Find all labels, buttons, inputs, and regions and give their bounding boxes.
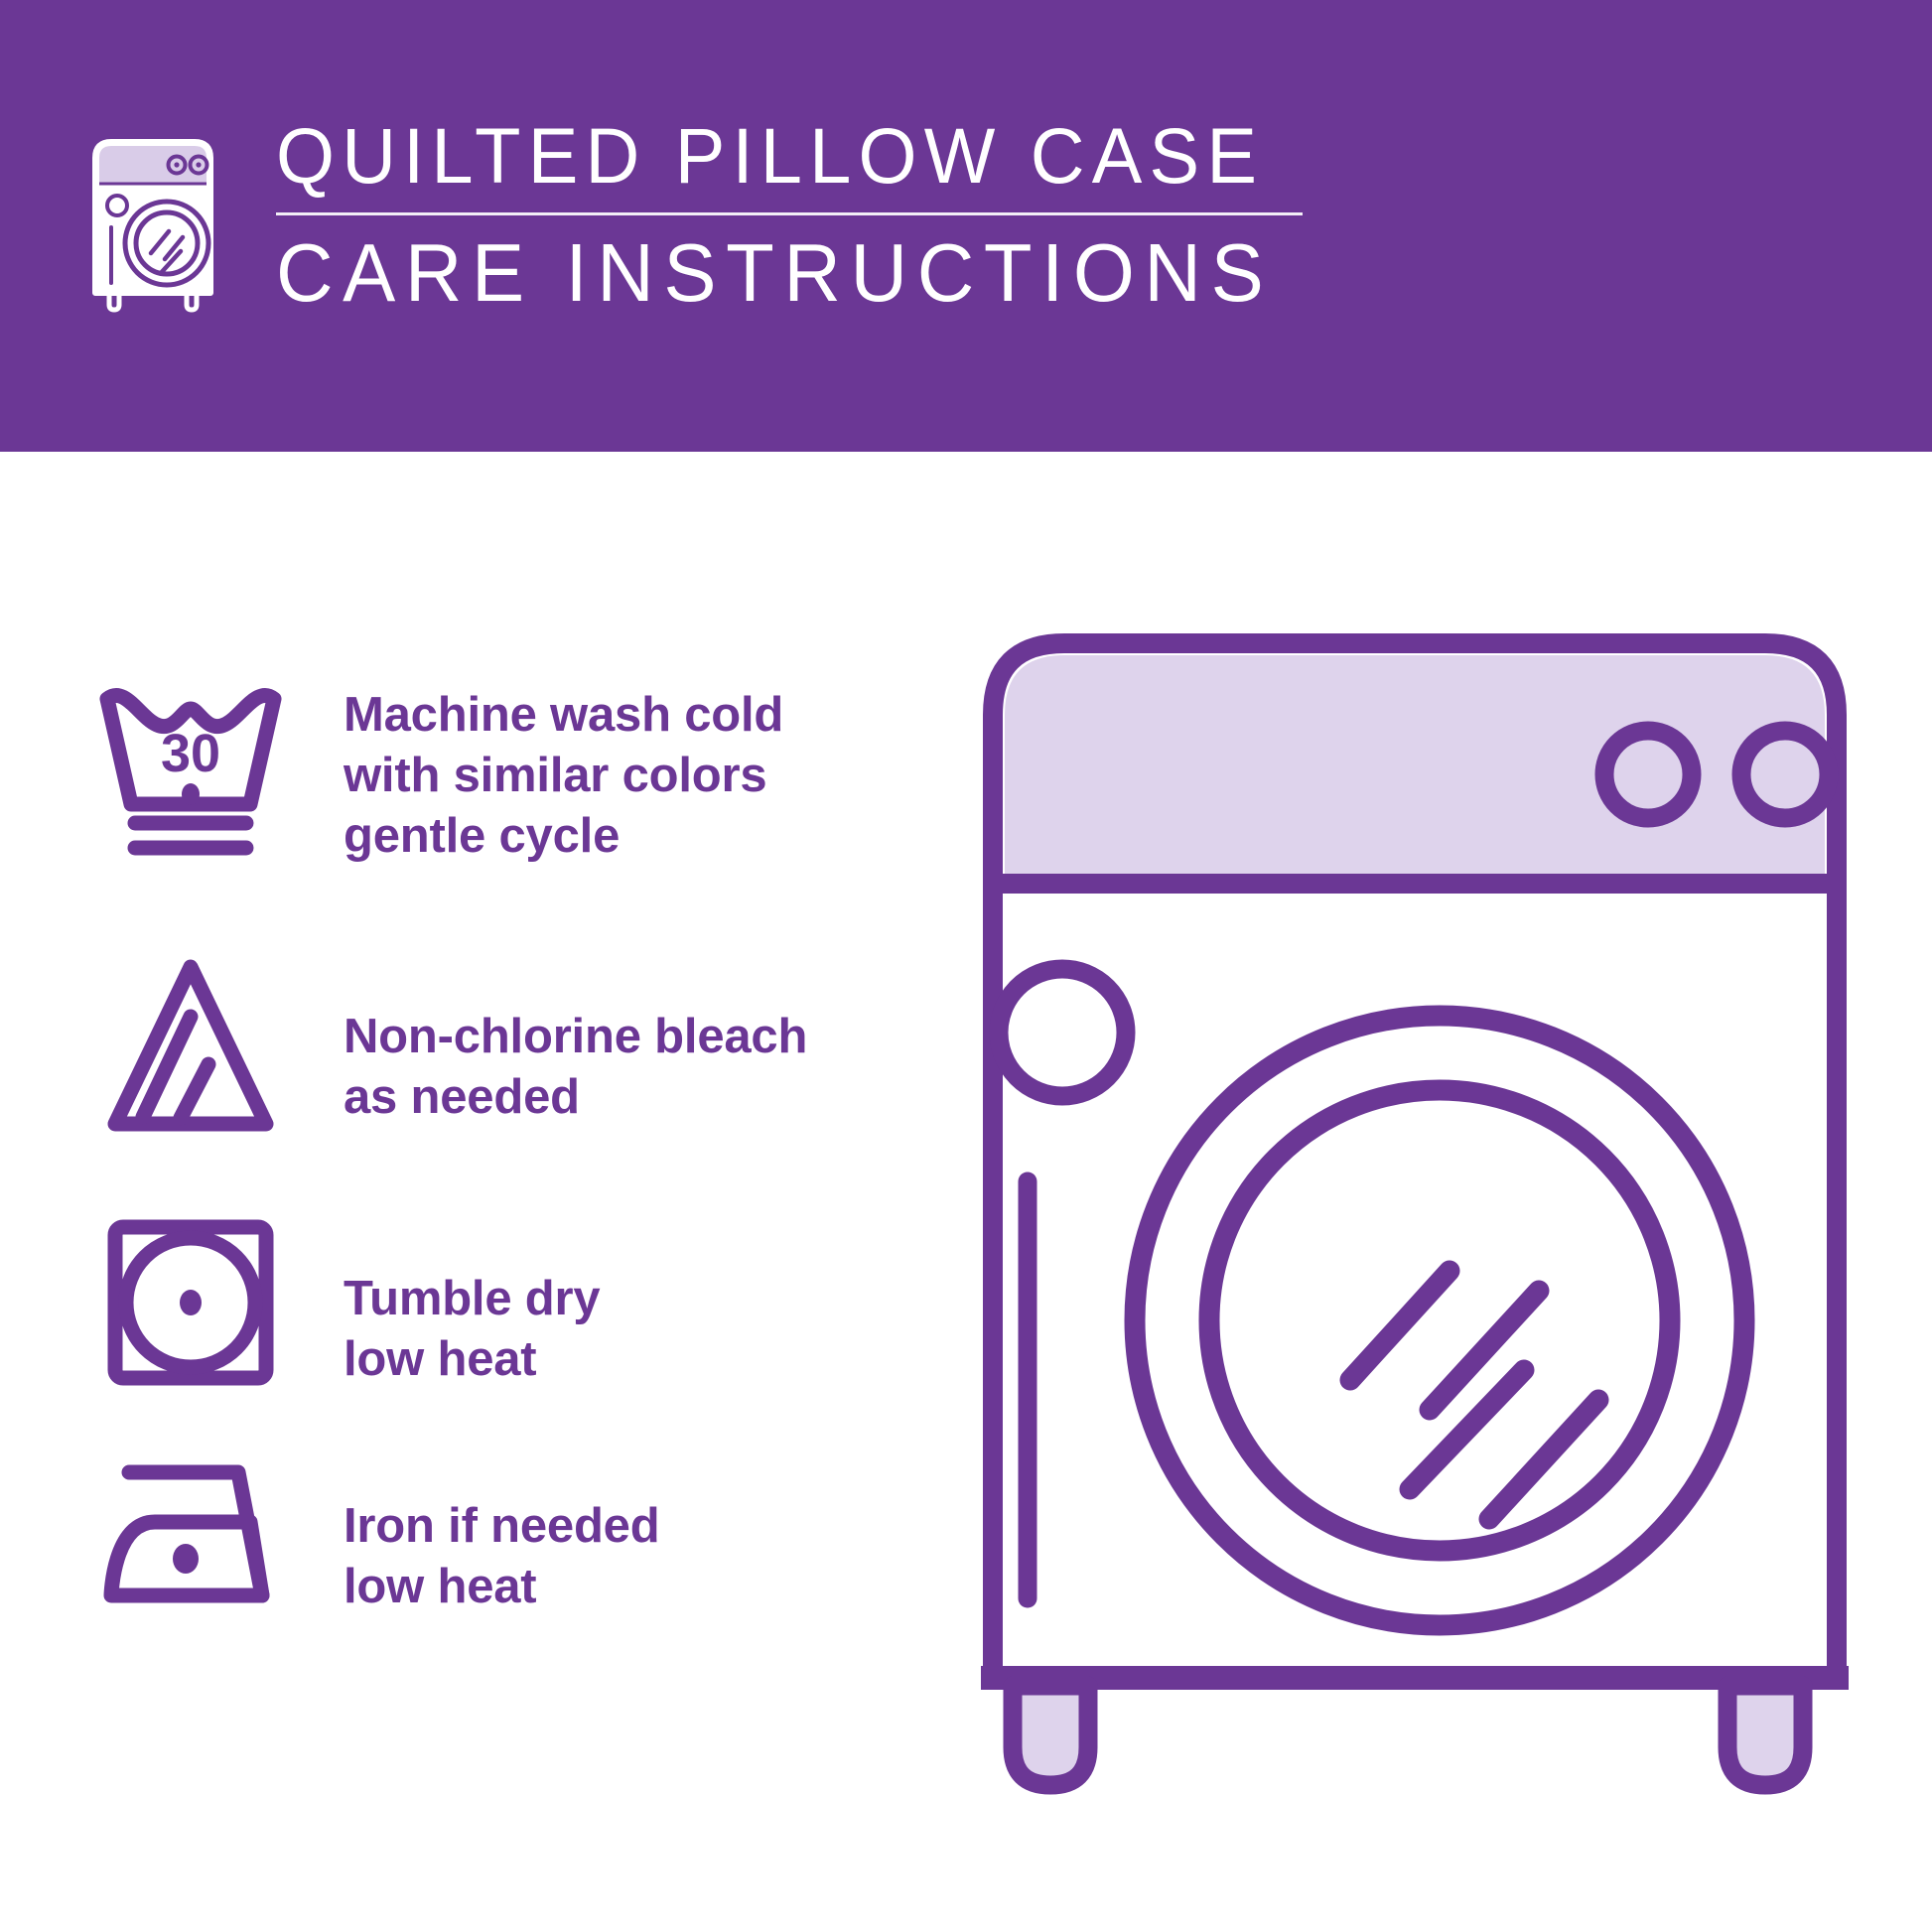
knob-right [1741,731,1829,818]
machine-wash-30-gentle-icon: 30 [91,677,290,866]
title-block: QUILTED PILLOW CASE CARE INSTRUCTIONS [276,116,1314,314]
tumble-dry-low-icon [91,1209,290,1398]
wash-temperature-label: 30 [161,724,220,783]
care-instruction-text: Iron if needed low heat [344,1445,659,1617]
washing-machine-icon [77,118,244,313]
page-title: QUILTED PILLOW CASE [276,116,1273,195]
washing-machine-illustration [953,596,1876,1817]
header-banner: QUILTED PILLOW CASE CARE INSTRUCTIONS [0,0,1932,452]
page-subtitle: CARE INSTRUCTIONS [276,231,1273,314]
header-content: QUILTED PILLOW CASE CARE INSTRUCTIONS [77,116,1314,314]
leg-right [1727,1686,1803,1785]
care-row: Tumble dry low heat [91,1209,945,1398]
leg-left [1013,1686,1088,1785]
title-divider [276,212,1303,215]
control-panel [1005,655,1825,878]
iron-low-heat-icon [91,1445,290,1633]
care-instructions-infographic: QUILTED PILLOW CASE CARE INSTRUCTIONS [0,0,1932,1932]
care-instruction-list: 30 Machine wash cold with similar colors… [0,452,953,1932]
care-instruction-text: Tumble dry low heat [344,1209,600,1390]
care-row: Non-chlorine bleach as needed [91,953,945,1142]
care-instruction-text: Non-chlorine bleach as needed [344,953,807,1128]
care-row: 30 Machine wash cold with similar colors… [91,677,945,866]
knob-left [1604,731,1692,818]
care-instruction-text: Machine wash cold with similar colors ge… [344,677,783,866]
care-row: Iron if needed low heat [91,1445,945,1633]
non-chlorine-bleach-icon [91,953,290,1142]
